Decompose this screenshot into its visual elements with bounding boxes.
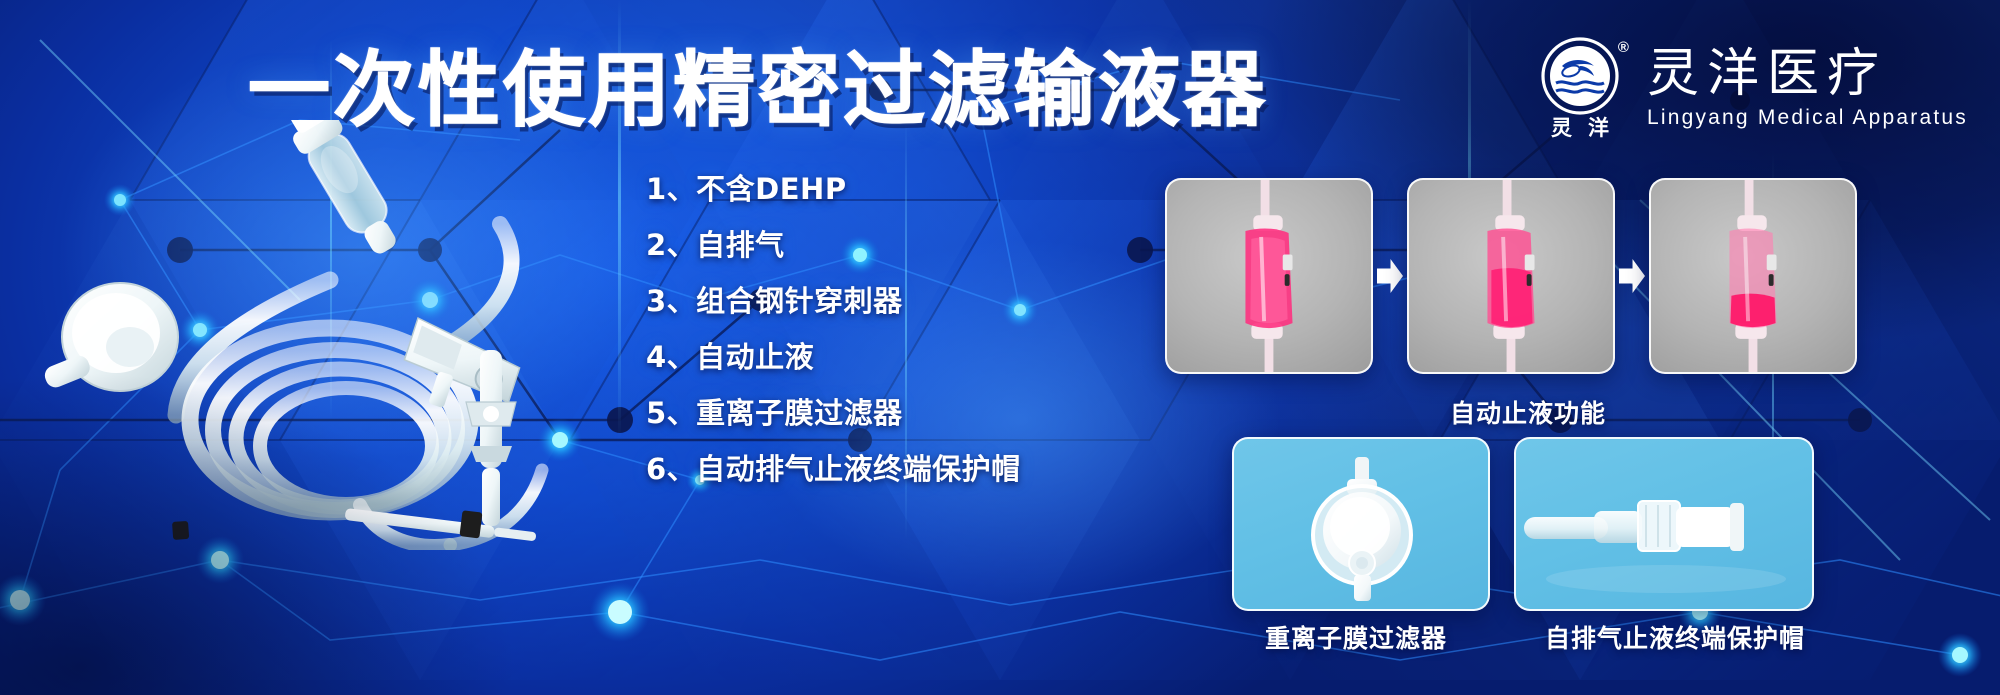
arrow-right-icon	[1377, 259, 1403, 293]
caption-auto-stop: 自动止液功能	[1450, 399, 1606, 428]
caption-filter: 重离子膜过滤器	[1265, 624, 1447, 653]
brand-name-en: Lingyang Medical Apparatus	[1647, 106, 1968, 129]
product-banner: 一次性使用精密过滤输液器 ® 灵洋	[0, 0, 2000, 695]
auto-stop-photo-2	[1407, 178, 1615, 374]
auto-stop-sequence	[1165, 178, 1857, 374]
arrow-gap-2	[1615, 259, 1649, 293]
logo-mark: ® 灵洋	[1535, 36, 1625, 139]
arrow-right-icon	[1619, 259, 1645, 293]
page-title: 一次性使用精密过滤输液器	[248, 47, 1268, 135]
brand-logo: ® 灵洋 灵洋医疗 Lingyang Medical Apparatus	[1535, 36, 1968, 139]
end-cap-photo	[1514, 437, 1814, 611]
feature-item-2: 2、自排气	[646, 228, 1021, 262]
brand-name-cn: 灵洋医疗	[1647, 46, 1968, 102]
feature-list: 1、不含DEHP 2、自排气 3、组合钢针穿刺器 4、自动止液 5、重离子膜过滤…	[646, 172, 1021, 486]
feature-item-3: 3、组合钢针穿刺器	[646, 284, 1021, 318]
auto-stop-photo-1	[1165, 178, 1373, 374]
product-detail-tiles	[1232, 437, 1814, 611]
arrow-gap-1	[1373, 259, 1407, 293]
brand-name-block: 灵洋医疗 Lingyang Medical Apparatus	[1647, 46, 1968, 129]
filter-photo	[1232, 437, 1490, 611]
product-photo-infusion-set	[30, 120, 690, 550]
feature-item-5: 5、重离子膜过滤器	[646, 396, 1021, 430]
feature-item-1: 1、不含DEHP	[646, 172, 1021, 206]
logo-mark-label: 灵洋	[1535, 118, 1625, 139]
feature-item-6: 6、自动排气止液终端保护帽	[646, 452, 1021, 486]
auto-stop-photo-3	[1649, 178, 1857, 374]
feature-item-4: 4、自动止液	[646, 340, 1021, 374]
lingyang-wave-emblem-icon: ®	[1540, 36, 1620, 116]
caption-end-cap: 自排气止液终端保护帽	[1545, 624, 1805, 653]
registered-trademark-icon: ®	[1618, 40, 1629, 55]
